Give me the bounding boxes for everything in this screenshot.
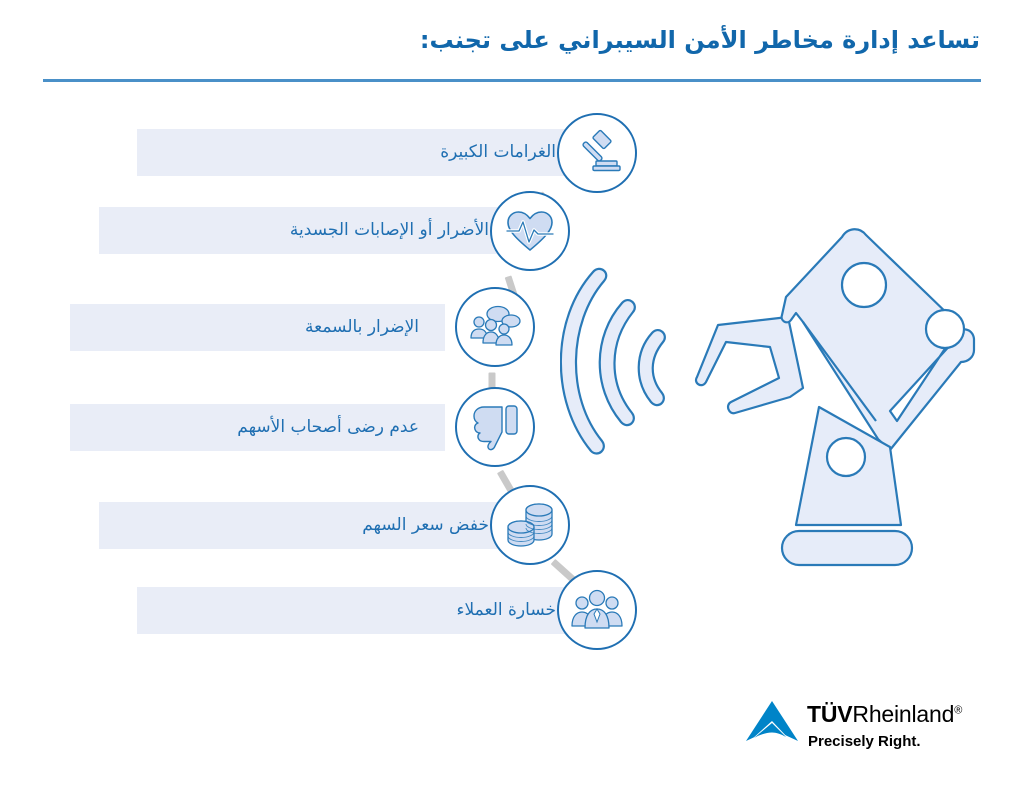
- coin-stacks-icon[interactable]: [490, 485, 570, 565]
- logo-wordmark: TÜVRheinland®: [807, 701, 962, 728]
- risk-bar[interactable]: خسارة العملاء: [137, 587, 582, 634]
- tuv-triangle-icon: [745, 699, 801, 751]
- slide-root: تساعد إدارة مخاطر الأمن السيبراني على تج…: [0, 0, 1024, 800]
- tuv-rheinland-logo: TÜVRheinland® Precisely Right.: [745, 697, 995, 761]
- risk-bar[interactable]: الغرامات الكبيرة: [137, 129, 582, 176]
- group-of-customers-icon[interactable]: [557, 570, 637, 650]
- risk-list: الغرامات الكبيرة الأضرار أو الإصابات الج…: [0, 0, 1024, 800]
- risk-bar[interactable]: الإضرار بالسمعة: [70, 304, 445, 351]
- risk-label: عدم رضى أصحاب الأسهم: [237, 419, 445, 436]
- logo-tagline: Precisely Right.: [808, 733, 921, 750]
- gavel-icon[interactable]: [557, 113, 637, 193]
- heartbeat-icon[interactable]: [490, 191, 570, 271]
- risk-bar[interactable]: خفض سعر السهم: [99, 502, 515, 549]
- thumbs-down-icon[interactable]: [455, 387, 535, 467]
- risk-label: الأضرار أو الإصابات الجسدية: [290, 222, 515, 239]
- risk-label: الإضرار بالسمعة: [305, 319, 445, 336]
- registered-mark: ®: [954, 704, 962, 716]
- logo-word-tuv: TÜV: [807, 701, 852, 727]
- risk-bar[interactable]: الأضرار أو الإصابات الجسدية: [99, 207, 515, 254]
- people-speech-bubbles-icon[interactable]: [455, 287, 535, 367]
- risk-bar[interactable]: عدم رضى أصحاب الأسهم: [70, 404, 445, 451]
- logo-word-rheinland: Rheinland: [852, 701, 954, 727]
